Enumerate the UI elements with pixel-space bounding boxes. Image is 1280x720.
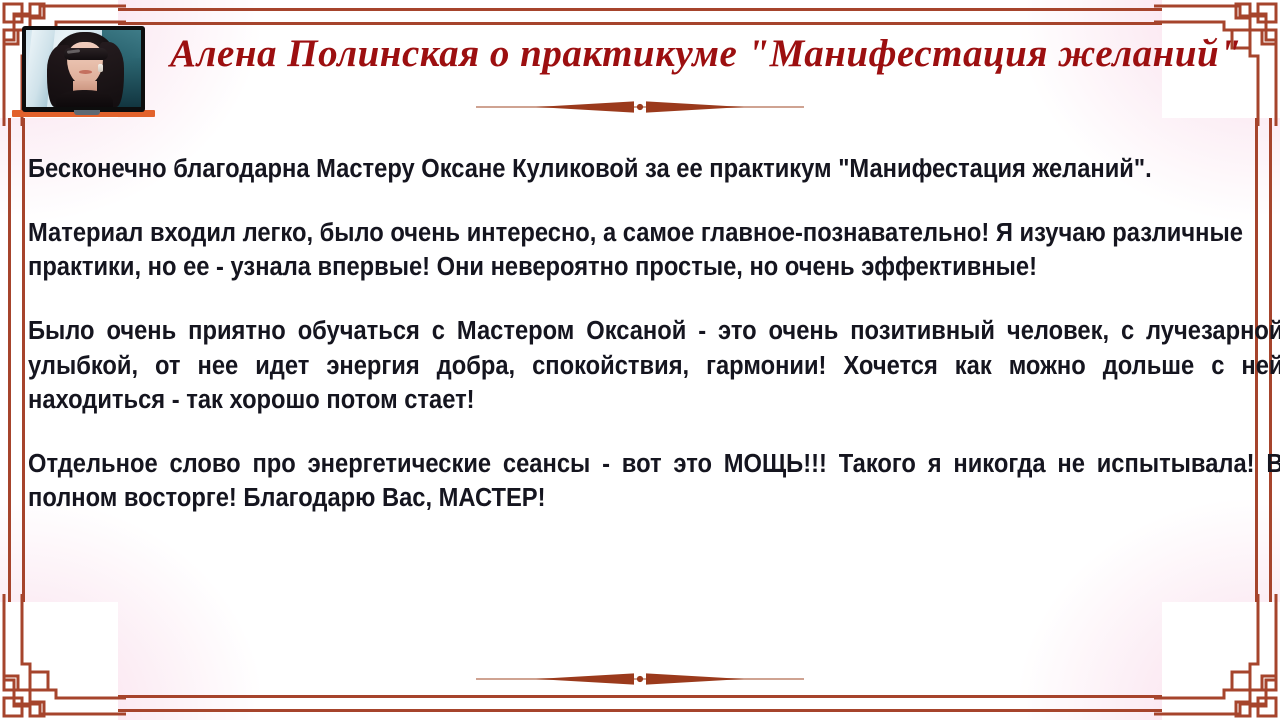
testimonial-paragraph-3: Было очень приятно обучаться с Мастером …	[28, 314, 1280, 416]
laptop-hinge-notch	[74, 110, 100, 115]
corner-ornament-bottom-right-icon	[1154, 594, 1280, 720]
avatar	[26, 30, 141, 107]
laptop-screen-bezel	[22, 26, 145, 112]
page-title: Алена Полинская о практикуме "Манифестац…	[170, 32, 1180, 77]
testimonial-paragraph-2: Материал входил легко, было очень интере…	[28, 216, 1280, 284]
divider-bottom-icon	[476, 670, 804, 688]
testimonial-body: Бесконечно благодарна Мастеру Оксане Кул…	[28, 152, 1280, 515]
testimonial-paragraph-1: Бесконечно благодарна Мастеру Оксане Кул…	[28, 152, 1280, 186]
testimonial-slide: Алена Полинская о практикуме "Манифестац…	[0, 0, 1280, 720]
corner-ornament-bottom-left-icon	[0, 594, 126, 720]
author-photo	[22, 26, 145, 114]
testimonial-paragraph-4: Отдельное слово про энергетические сеанс…	[28, 447, 1280, 515]
divider-top-icon	[476, 98, 804, 116]
